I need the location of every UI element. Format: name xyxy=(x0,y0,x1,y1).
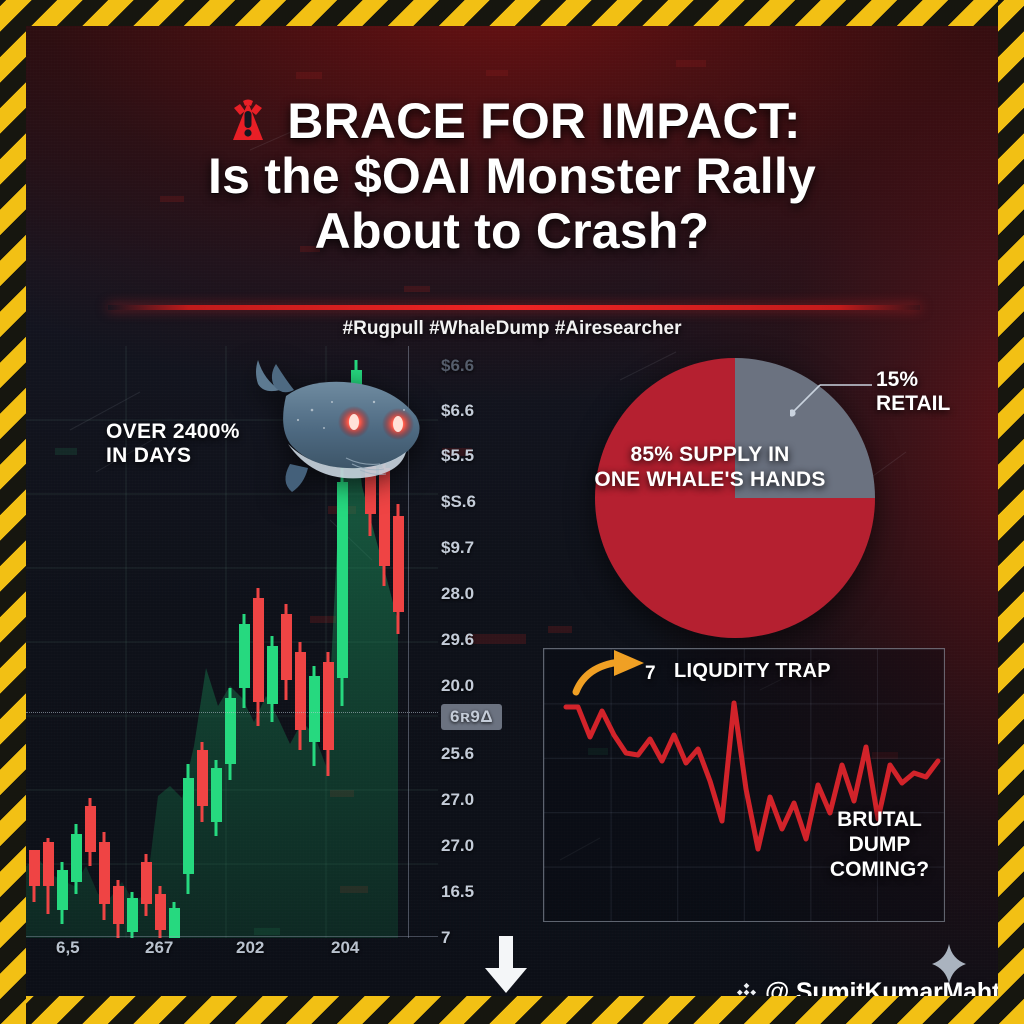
title-line-1-row: BRACE FOR IMPACT: xyxy=(26,96,998,147)
hazard-tape-left xyxy=(0,0,26,1024)
candlestick-x-axis xyxy=(26,936,438,937)
siren-alert-icon xyxy=(223,99,273,145)
title-block: BRACE FOR IMPACT: Is the $OAI Monster Ra… xyxy=(26,96,998,257)
title-line-3: About to Crash? xyxy=(26,206,998,257)
hashtags: #Rugpull #WhaleDump #Airesearcher xyxy=(26,318,998,340)
x-tick-2: 202 xyxy=(236,938,264,958)
over-percent-line-1: OVER 2400% xyxy=(106,420,240,444)
over-percent-line-2: IN DAYS xyxy=(106,444,240,468)
y-tick-1: $6.6 xyxy=(441,401,474,421)
y-tick-9: 27.0 xyxy=(441,790,474,810)
y-tick-2: $5.5 xyxy=(441,446,474,466)
title-divider xyxy=(108,305,920,310)
y-tick-0: $6.6 xyxy=(441,356,474,376)
y-tick-3: $S.6 xyxy=(441,492,476,512)
y-tick-4: $9.7 xyxy=(441,538,474,558)
title-line-2: Is the $OAI Monster Rally xyxy=(26,151,998,202)
title-line-1: BRACE FOR IMPACT: xyxy=(287,96,801,147)
brutal-line-2: DUMP xyxy=(822,833,937,858)
y-tick-6: 29.6 xyxy=(441,630,474,650)
y-tick-10: 27.0 xyxy=(441,836,474,856)
retail-line-1: 15% xyxy=(876,368,950,392)
y-tick-7: 20.0 xyxy=(441,676,474,696)
crosshair-line xyxy=(26,712,438,713)
pie-leader-line xyxy=(790,375,890,425)
hazard-tape-top xyxy=(0,0,1024,26)
pie-retail-label: 15% RETAIL xyxy=(876,368,950,417)
hazard-tape-bottom xyxy=(0,996,1024,1024)
brutal-dump-annotation: BRUTAL DUMP COMING? xyxy=(822,808,937,882)
x-tick-1: 267 xyxy=(145,938,173,958)
y-tick-8: 25.6 xyxy=(441,744,474,764)
liquidity-trap-label: LIQUDITY TRAP xyxy=(674,660,831,683)
y-tick-11: 16.5 xyxy=(441,882,474,902)
candlestick-y-tick-labels: $6.6 $6.6 $5.5 $S.6 $9.7 28.0 29.6 20.0 … xyxy=(441,346,521,946)
down-arrow-icon xyxy=(484,936,528,994)
whale-illustration xyxy=(228,352,424,504)
brutal-line-3: COMING? xyxy=(822,858,937,883)
x-tick-0: 6,5 xyxy=(56,938,80,958)
brutal-line-1: BRUTAL xyxy=(822,808,937,833)
infographic-canvas: BRACE FOR IMPACT: Is the $OAI Monster Ra… xyxy=(0,0,1024,1024)
current-price-tag[interactable]: 6ʀ9Δ xyxy=(441,704,502,730)
candlestick-x-tick-labels: 6,5 267 202 204 xyxy=(26,938,446,974)
liquidity-marker: 7 xyxy=(645,663,656,685)
hazard-tape-right xyxy=(998,0,1024,1024)
pie-main-line-1: 85% SUPPLY IN xyxy=(545,442,875,467)
y-tick-5: 28.0 xyxy=(441,584,474,604)
pie-main-label: 85% SUPPLY IN ONE WHALE'S HANDS xyxy=(545,442,875,492)
over-percent-annotation: OVER 2400% IN DAYS xyxy=(106,420,240,469)
x-tick-3: 204 xyxy=(331,938,359,958)
pie-main-line-2: ONE WHALE'S HANDS xyxy=(545,467,875,492)
retail-line-2: RETAIL xyxy=(876,392,950,416)
